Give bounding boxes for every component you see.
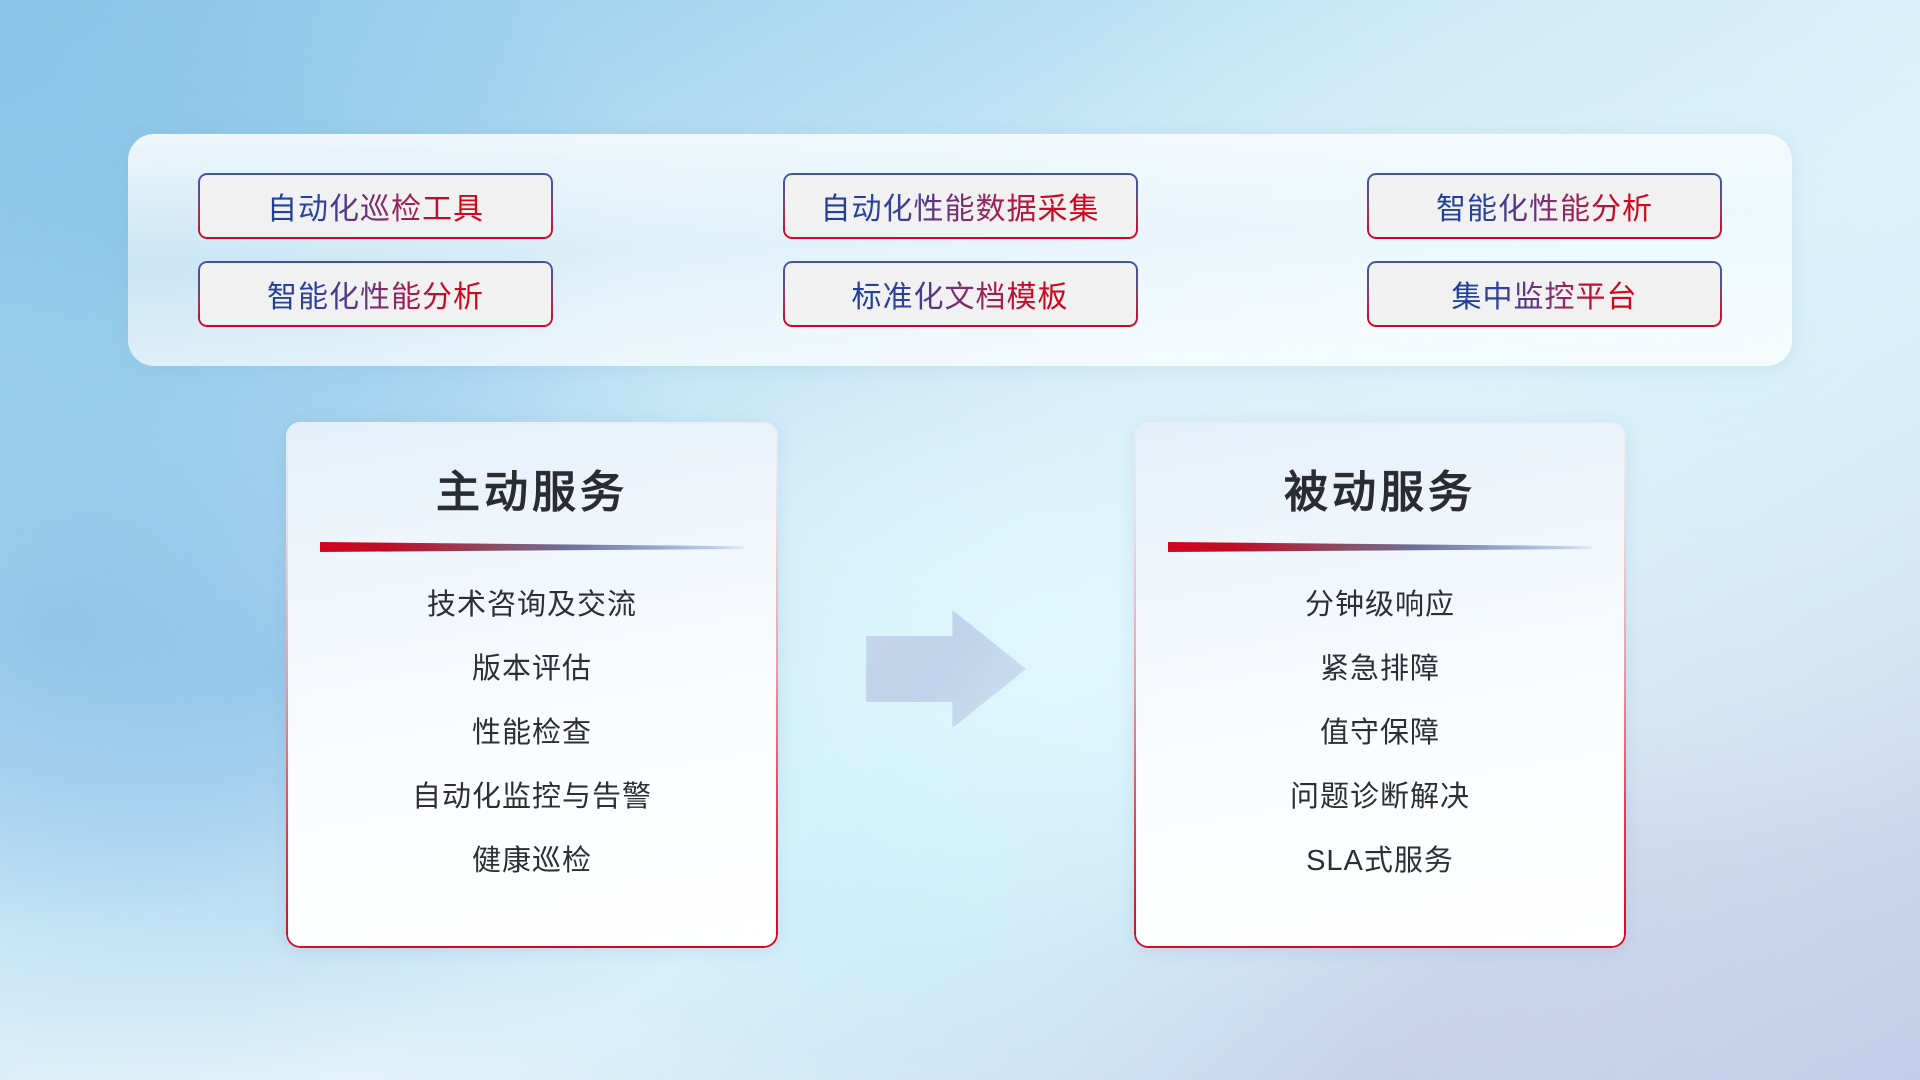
list-item: SLA式服务 — [1306, 836, 1454, 887]
capability-pill-label: 自动化性能数据采集 — [821, 184, 1100, 228]
capability-pill-label: 集中监控平台 — [1452, 272, 1638, 316]
list-item: 紧急排障 — [1320, 644, 1440, 695]
capability-pill-centralized-monitoring-platform[interactable]: 集中监控平台 — [1367, 261, 1722, 327]
capability-pill-intelligent-performance-analysis-b[interactable]: 智能化性能分析 — [198, 261, 553, 327]
service-card-proactive: 主动服务 技术咨询及交流 版本评估 性能检查 自动化监控与告警 健康巡检 — [286, 422, 778, 948]
service-card-title: 主动服务 — [436, 456, 628, 520]
service-item-list: 技术咨询及交流 版本评估 性能检查 自动化监控与告警 健康巡检 — [286, 580, 778, 887]
capability-panel: 自动化巡检工具 自动化性能数据采集 智能化性能分析 智能化性能分析 标准化文档模… — [128, 134, 1792, 366]
capability-pill-label: 智能化性能分析 — [1436, 184, 1653, 228]
service-card-title: 被动服务 — [1284, 456, 1476, 520]
service-item-list: 分钟级响应 紧急排障 值守保障 问题诊断解决 SLA式服务 — [1134, 580, 1626, 887]
service-card-content: 主动服务 技术咨询及交流 版本评估 性能检查 自动化监控与告警 健康巡检 — [286, 422, 778, 948]
title-divider — [320, 542, 744, 552]
capability-pill-auto-performance-data-collection[interactable]: 自动化性能数据采集 — [783, 173, 1138, 239]
title-divider — [1168, 542, 1592, 552]
list-item: 自动化监控与告警 — [412, 772, 652, 823]
list-item: 分钟级响应 — [1305, 580, 1455, 631]
capability-pill-label: 智能化性能分析 — [267, 272, 484, 316]
list-item: 性能检查 — [472, 708, 592, 759]
capability-row-2: 智能化性能分析 标准化文档模板 集中监控平台 — [198, 261, 1722, 327]
list-item: 问题诊断解决 — [1290, 772, 1470, 823]
list-item: 技术咨询及交流 — [427, 580, 637, 631]
list-item: 健康巡检 — [472, 836, 592, 887]
service-card-content: 被动服务 分钟级响应 紧急排障 值守保障 问题诊断解决 SLA式服务 — [1134, 422, 1626, 948]
capability-pill-label: 标准化文档模板 — [852, 272, 1069, 316]
service-card-reactive: 被动服务 分钟级响应 紧急排障 值守保障 问题诊断解决 SLA式服务 — [1134, 422, 1626, 948]
capability-pill-intelligent-performance-analysis-a[interactable]: 智能化性能分析 — [1367, 173, 1722, 239]
capability-pill-auto-inspection-tool[interactable]: 自动化巡检工具 — [198, 173, 553, 239]
list-item: 值守保障 — [1320, 708, 1440, 759]
capability-pill-label: 自动化巡检工具 — [267, 184, 484, 228]
capability-pill-standard-doc-template[interactable]: 标准化文档模板 — [783, 261, 1138, 327]
capability-row-1: 自动化巡检工具 自动化性能数据采集 智能化性能分析 — [198, 173, 1722, 239]
list-item: 版本评估 — [472, 644, 592, 695]
